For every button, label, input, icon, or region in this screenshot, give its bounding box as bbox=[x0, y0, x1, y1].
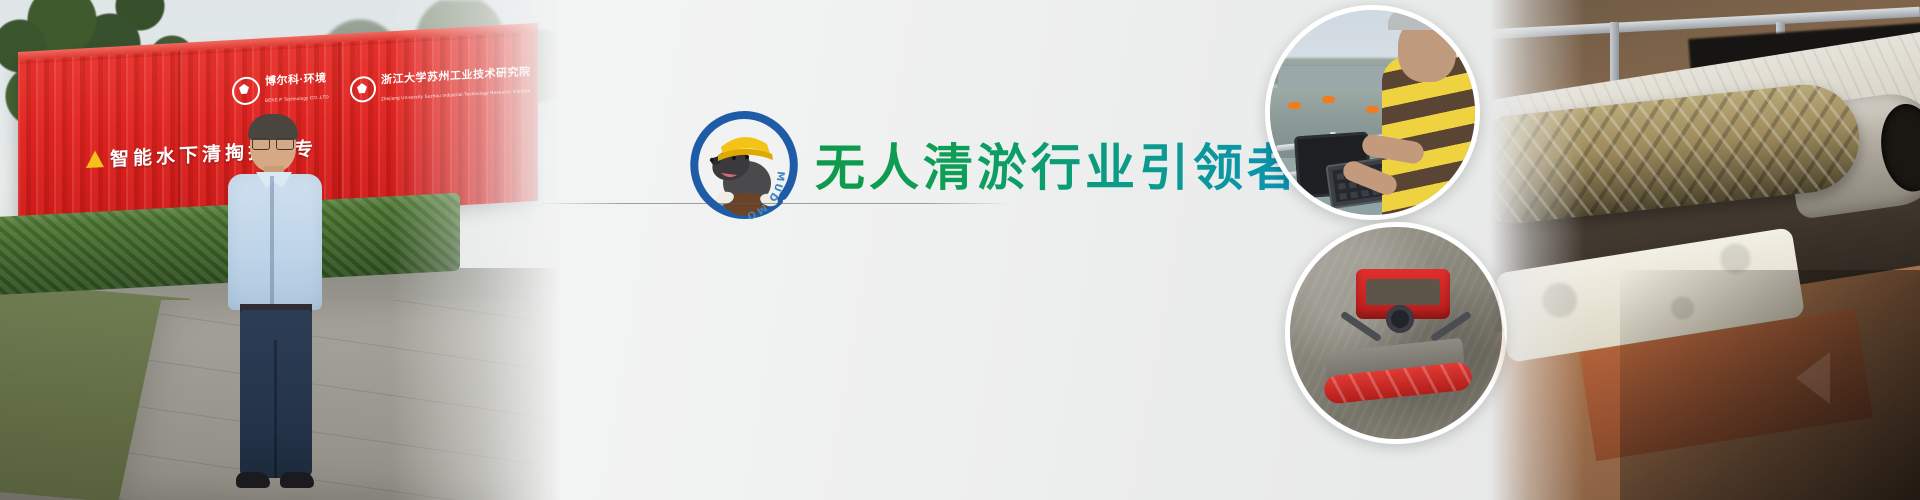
pipe-mouth bbox=[1876, 100, 1920, 195]
boerke-logo-zh: 博尔科·环境 bbox=[265, 72, 327, 87]
float-marker bbox=[1366, 106, 1379, 113]
engineer-glasses bbox=[252, 138, 294, 148]
corner-shadow-overlay bbox=[1620, 270, 1920, 500]
container-seam bbox=[338, 42, 341, 212]
sludge-surface bbox=[1290, 227, 1502, 439]
engineer-hair bbox=[248, 114, 298, 140]
container-seam bbox=[178, 51, 181, 221]
engineer-shirt bbox=[228, 174, 322, 310]
operator-cap bbox=[1388, 10, 1466, 30]
engineer-portrait bbox=[222, 118, 332, 500]
boerke-mark-icon bbox=[232, 76, 260, 106]
headline-text: 无人清淤行业引领者 bbox=[815, 128, 1301, 200]
container-logo-boerke: 博尔科·环境 BEKE.P Technology CO.,LTD bbox=[232, 69, 329, 108]
container-and-engineer-photo: 博尔科·环境 BEKE.P Technology CO.,LTD 浙江大学苏州工… bbox=[0, 0, 560, 500]
sludge-discharge-pipe-photo bbox=[1490, 0, 1920, 500]
zju-mark-icon bbox=[350, 75, 376, 102]
float-marker bbox=[1322, 96, 1335, 103]
engineer-shoe-left bbox=[236, 472, 270, 488]
hero-banner: 博尔科·环境 BEKE.P Technology CO.,LTD 浙江大学苏州工… bbox=[0, 0, 1920, 500]
boerke-logo-en: BEKE.P Technology CO.,LTD bbox=[265, 94, 329, 103]
engineer-trousers bbox=[240, 310, 312, 478]
chevron-right-icon bbox=[1796, 352, 1830, 404]
horizontal-rule bbox=[540, 203, 1010, 204]
dredging-robot-circle-photo bbox=[1285, 222, 1507, 444]
headline-wrap: 无人清淤行业引领者 bbox=[815, 128, 1301, 200]
slogan-triangle-icon bbox=[86, 150, 104, 168]
center-content: MUD MOLE 无人清淤行业引领者 bbox=[640, 0, 1280, 500]
mud-mole-logo: MUD MOLE bbox=[685, 105, 805, 225]
engineer-shoe-right bbox=[280, 472, 314, 488]
concrete-path bbox=[119, 300, 560, 500]
operator-console-circle-photo bbox=[1265, 5, 1480, 220]
robot-wheel bbox=[1386, 305, 1414, 333]
engineer-shirt-placket bbox=[270, 176, 274, 304]
float-marker bbox=[1288, 102, 1301, 109]
